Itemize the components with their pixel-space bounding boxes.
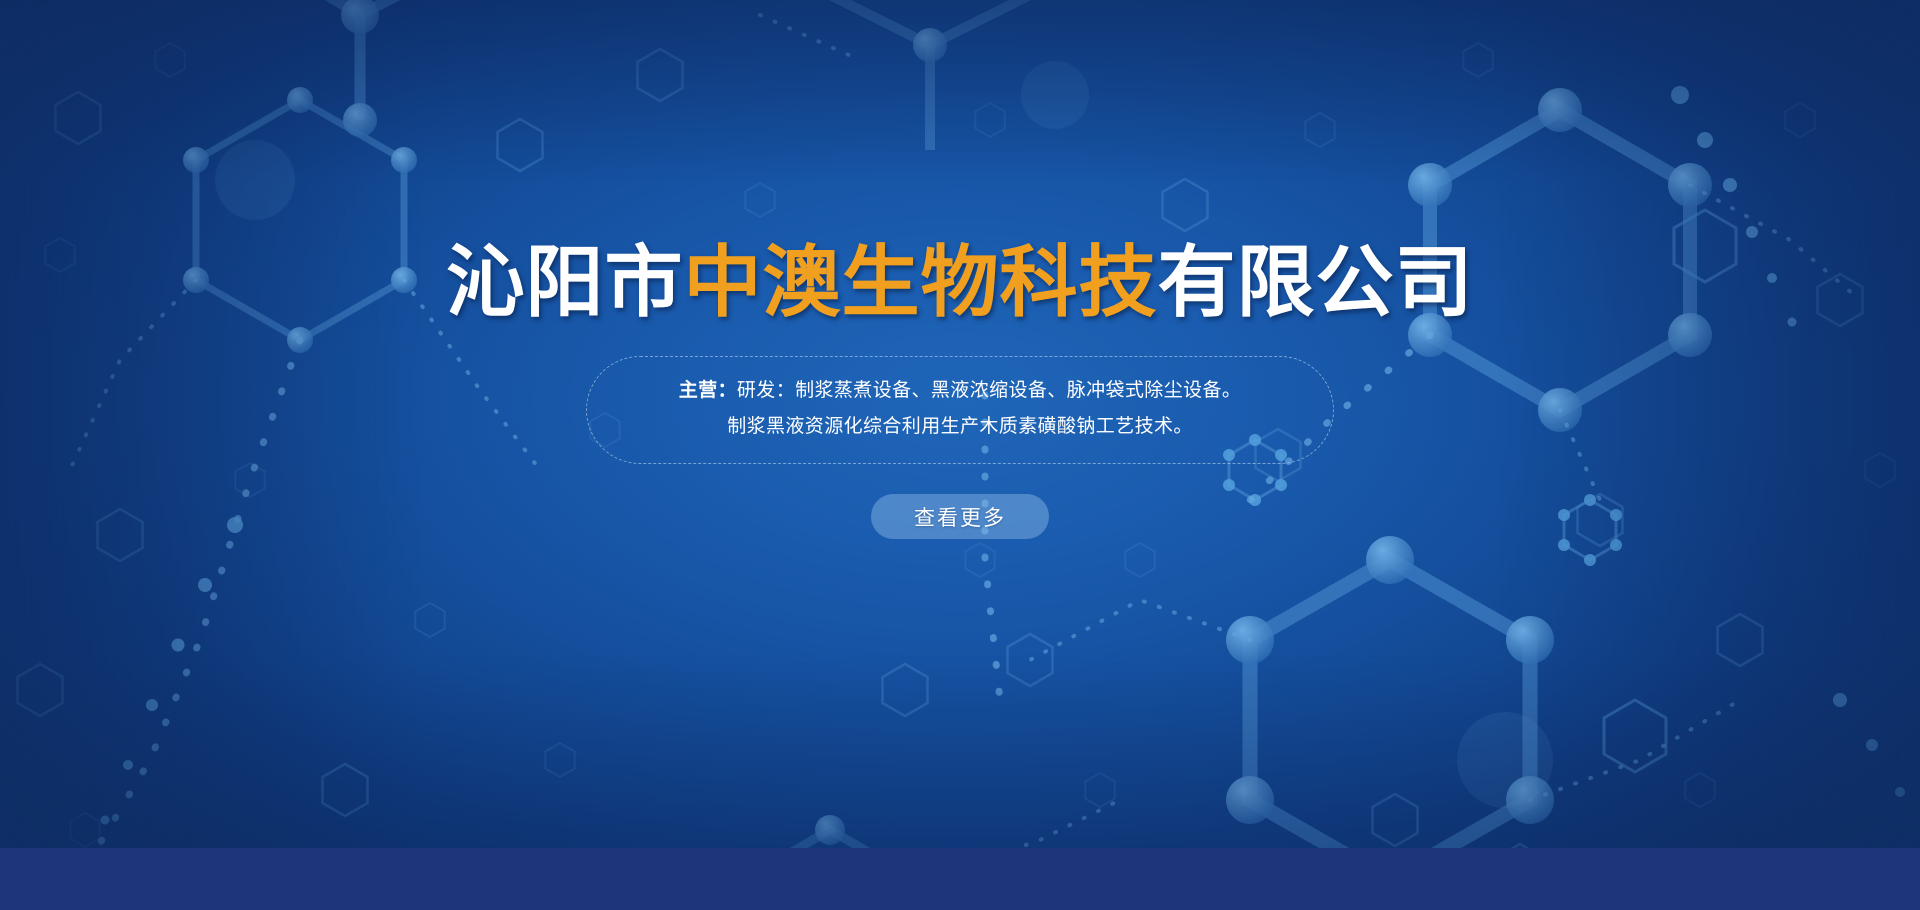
business-scope-label: 主营： [679,380,737,401]
hero-banner: 沁阳市中澳生物科技有限公司 主营：研发：制浆蒸煮设备、黑液浓缩设备、脉冲袋式除尘… [0,0,1920,910]
page-title: 沁阳市中澳生物科技有限公司 [446,0,1473,324]
business-scope-text-1: 研发：制浆蒸煮设备、黑液浓缩设备、脉冲袋式除尘设备。 [737,380,1241,401]
business-scope-line-1: 主营：研发：制浆蒸煮设备、黑液浓缩设备、脉冲袋式除尘设备。 [617,373,1303,409]
business-scope-line-2: 制浆黑液资源化综合利用生产木质素磺酸钠工艺技术。 [617,409,1303,445]
business-scope-box: 主营：研发：制浆蒸煮设备、黑液浓缩设备、脉冲袋式除尘设备。 制浆黑液资源化综合利… [586,356,1334,464]
title-accent: 中澳生物科技 [683,238,1157,326]
title-prefix: 沁阳市 [446,238,683,326]
title-suffix: 有限公司 [1158,238,1474,326]
bottom-accent-strip [0,848,1920,910]
view-more-button[interactable]: 查看更多 [871,494,1049,539]
hero-content: 沁阳市中澳生物科技有限公司 主营：研发：制浆蒸煮设备、黑液浓缩设备、脉冲袋式除尘… [0,0,1920,910]
